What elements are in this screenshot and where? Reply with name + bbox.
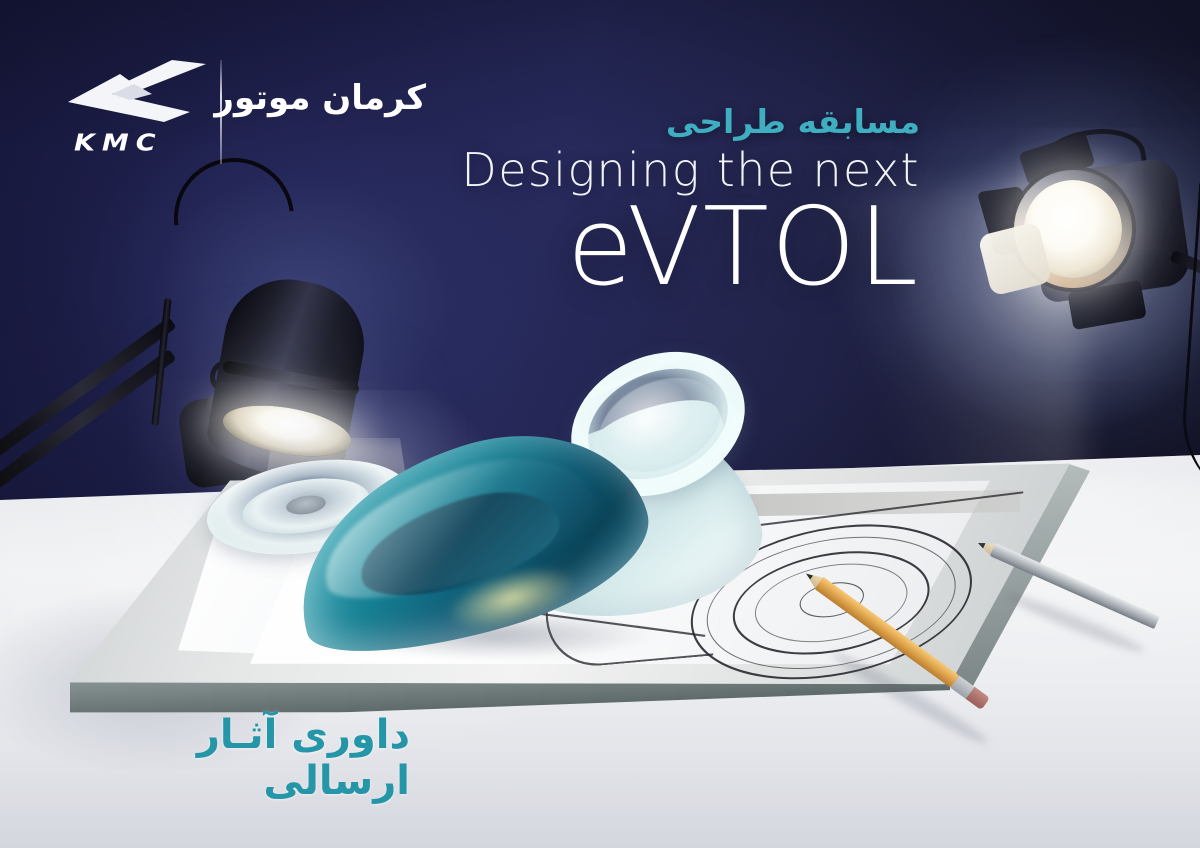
brand-wordmark: KMC: [74, 130, 210, 156]
footer-caption: داوری آثـار ارسالی: [60, 712, 410, 804]
poster-canvas: KMC کرمان موتور مسابقه طراحی Designing t…: [0, 0, 1200, 848]
brand-persian-name: کرمان موتور: [236, 78, 426, 134]
headline-line-2: eVTOL: [420, 193, 920, 303]
headline-persian-kicker: مسابقه طراحی: [420, 104, 920, 141]
kmc-wing-logo-icon: [68, 58, 208, 124]
evtol-concept-model: [196, 352, 796, 682]
headline-block: مسابقه طراحی Designing the next eVTOL: [420, 104, 920, 303]
studio-par-light-icon: [992, 128, 1200, 378]
brand-lockup: KMC کرمان موتور: [68, 58, 428, 170]
